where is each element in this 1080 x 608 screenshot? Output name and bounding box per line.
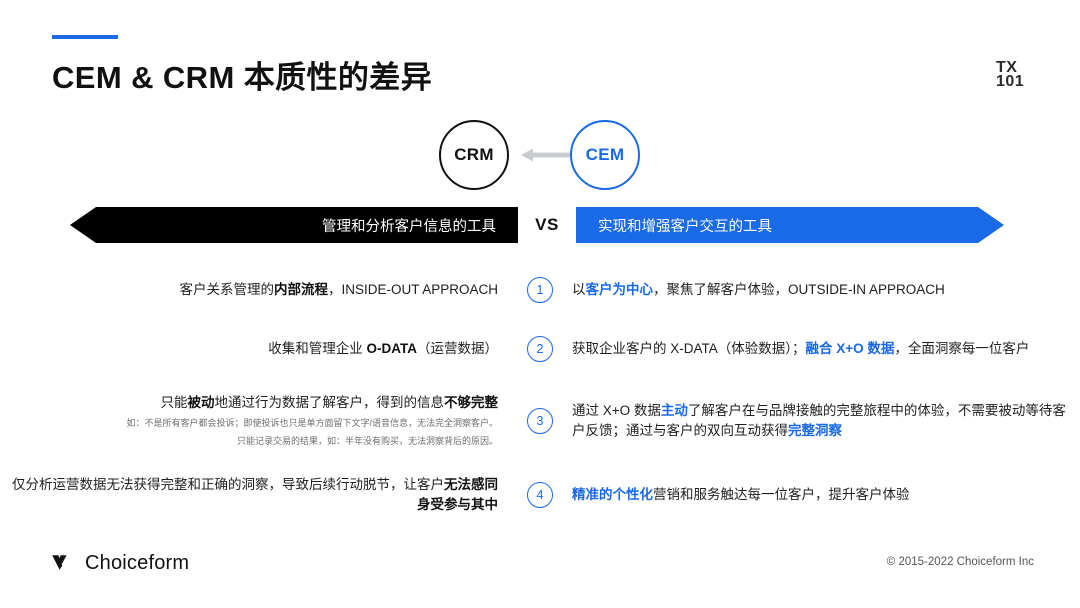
row-4-left-pre: 仅分析运营数据无法获得完整和正确的洞察，导致后续行动脱节，让	[12, 477, 417, 492]
row-1-right-cell: 以客户为中心，聚焦了解客户体验，OUTSIDE-IN APPROACH	[572, 262, 1080, 318]
row-1-left-pre: 客户关系管理的	[179, 282, 274, 297]
choiceform-logo-text: Choiceform	[85, 552, 189, 575]
row-4-left-cell: 仅分析运营数据无法获得完整和正确的洞察，导致后续行动脱节，让客户无法感同身受参与…	[0, 462, 508, 528]
title-accent-bar	[52, 35, 118, 39]
row-4-right-post: 营销和服务触达每一位客户，提升客户体验	[653, 487, 910, 502]
row-2-right-cell: 获取企业客户的 X-DATA（体验数据）；融合 X+O 数据，全面洞察每一位客户	[572, 318, 1080, 380]
choiceform-checkmark-logo-icon	[50, 548, 76, 579]
row-3-number-badge: 3	[527, 408, 553, 434]
row-2-left-post: （运营数据）	[417, 341, 498, 356]
crm-circle: CRM	[439, 120, 509, 190]
row-3-badge-cell: 3	[508, 380, 572, 462]
row-3-left-cell: 只能被动地通过行为数据了解客户，得到的信息不够完整 如：不是所有客户都会投诉；即…	[0, 380, 508, 462]
row-2-badge-cell: 2	[508, 318, 572, 380]
tx101-logo-line2: 101	[996, 74, 1036, 90]
row-2-left-pre: 收集和管理企业	[268, 341, 366, 356]
row-4-badge-cell: 4	[508, 462, 572, 528]
row-2-right-highlight: 融合 X+O 数据	[806, 341, 895, 356]
row-1-left-post: ，INSIDE-OUT APPROACH	[328, 282, 498, 297]
vs-label: VS	[518, 207, 576, 243]
page-title: CEM & CRM 本质性的差异	[52, 52, 432, 97]
row-2-right-pre: 获取企业客户的 X-DATA（体验数据）；	[572, 341, 806, 356]
row-4-left-mid: 客户	[417, 477, 444, 492]
row-4-right-highlight: 精准的个性化	[572, 487, 653, 502]
comparison-row-2: 收集和管理企业 O-DATA（运营数据） 2 获取企业客户的 X-DATA（体验…	[0, 318, 1080, 380]
row-4-number-badge: 4	[527, 482, 553, 508]
row-4-left-text: 仅分析运营数据无法获得完整和正确的洞察，导致后续行动脱节，让客户无法感同身受参与…	[0, 475, 498, 515]
row-3-left-subtext-2: 只能记录交易的结果，如：半年没有购买，无法洞察背后的原因。	[237, 434, 498, 449]
row-3-left-bold-2: 不够完整	[444, 395, 498, 410]
tx101-logo: TX 101	[996, 60, 1036, 90]
cem-banner: 实现和增强客户交互的工具	[576, 207, 1004, 243]
row-3-right-text: 通过 X+O 数据主动了解客户在与品牌接触的完整旅程中的体验，不需要被动等待客户…	[572, 401, 1066, 441]
copyright-text: © 2015-2022 Choiceform Inc	[887, 556, 1034, 568]
row-1-right-pre: 以	[572, 282, 586, 297]
row-1-number-badge: 1	[527, 277, 553, 303]
crm-banner: 管理和分析客户信息的工具	[70, 207, 518, 243]
row-1-left-bold: 内部流程	[274, 282, 328, 297]
row-1-left-text: 客户关系管理的内部流程，INSIDE-OUT APPROACH	[179, 280, 498, 300]
comparison-row-3: 只能被动地通过行为数据了解客户，得到的信息不够完整 如：不是所有客户都会投诉；即…	[0, 380, 1080, 462]
row-1-left-cell: 客户关系管理的内部流程，INSIDE-OUT APPROACH	[0, 262, 508, 318]
slide-canvas: CEM & CRM 本质性的差异 TX 101 CRM CEM 管理和分析客户信…	[0, 0, 1080, 608]
row-3-right-cell: 通过 X+O 数据主动了解客户在与品牌接触的完整旅程中的体验，不需要被动等待客户…	[572, 380, 1080, 462]
row-2-right-text: 获取企业客户的 X-DATA（体验数据）；融合 X+O 数据，全面洞察每一位客户	[572, 339, 1029, 359]
diagram-circles-row: CRM CEM	[0, 120, 1080, 202]
comparison-row-4: 仅分析运营数据无法获得完整和正确的洞察，导致后续行动脱节，让客户无法感同身受参与…	[0, 462, 1080, 528]
row-3-left-pre: 只能	[161, 395, 188, 410]
row-4-right-cell: 精准的个性化营销和服务触达每一位客户，提升客户体验	[572, 462, 1080, 528]
comparison-row-1: 客户关系管理的内部流程，INSIDE-OUT APPROACH 1 以客户为中心…	[0, 262, 1080, 318]
row-1-badge-cell: 1	[508, 262, 572, 318]
row-2-right-post: ，全面洞察每一位客户	[894, 341, 1029, 356]
row-2-number-badge: 2	[527, 336, 553, 362]
row-3-left-bold: 被动	[188, 395, 215, 410]
row-3-left-text: 只能被动地通过行为数据了解客户，得到的信息不够完整	[161, 393, 499, 413]
banner-row: 管理和分析客户信息的工具 VS 实现和增强客户交互的工具	[0, 207, 1080, 243]
row-1-right-post: ，聚焦了解客户体验，OUTSIDE-IN APPROACH	[653, 282, 945, 297]
row-2-left-bold: O-DATA	[367, 341, 418, 356]
choiceform-logo: Choiceform	[50, 548, 189, 579]
row-2-left-text: 收集和管理企业 O-DATA（运营数据）	[268, 339, 498, 359]
row-3-right-pre: 通过 X+O 数据	[572, 403, 661, 418]
row-4-right-text: 精准的个性化营销和服务触达每一位客户，提升客户体验	[572, 485, 910, 505]
row-1-right-text: 以客户为中心，聚焦了解客户体验，OUTSIDE-IN APPROACH	[572, 280, 945, 300]
row-1-right-highlight: 客户为中心	[586, 282, 654, 297]
comparison-table: 客户关系管理的内部流程，INSIDE-OUT APPROACH 1 以客户为中心…	[0, 262, 1080, 528]
row-2-left-cell: 收集和管理企业 O-DATA（运营数据）	[0, 318, 508, 380]
slide-footer: Choiceform © 2015-2022 Choiceform Inc	[0, 538, 1080, 608]
row-3-left-mid: 地通过行为数据了解客户，得到的信息	[215, 395, 445, 410]
row-3-right-highlight-2: 完整洞察	[788, 423, 842, 438]
row-3-right-highlight: 主动	[661, 403, 688, 418]
row-3-left-subtext-1: 如：不是所有客户都会投诉；即使投诉也只是单方面留下文字/语音信息，无法完全洞察客…	[126, 416, 498, 431]
cem-circle: CEM	[570, 120, 640, 190]
